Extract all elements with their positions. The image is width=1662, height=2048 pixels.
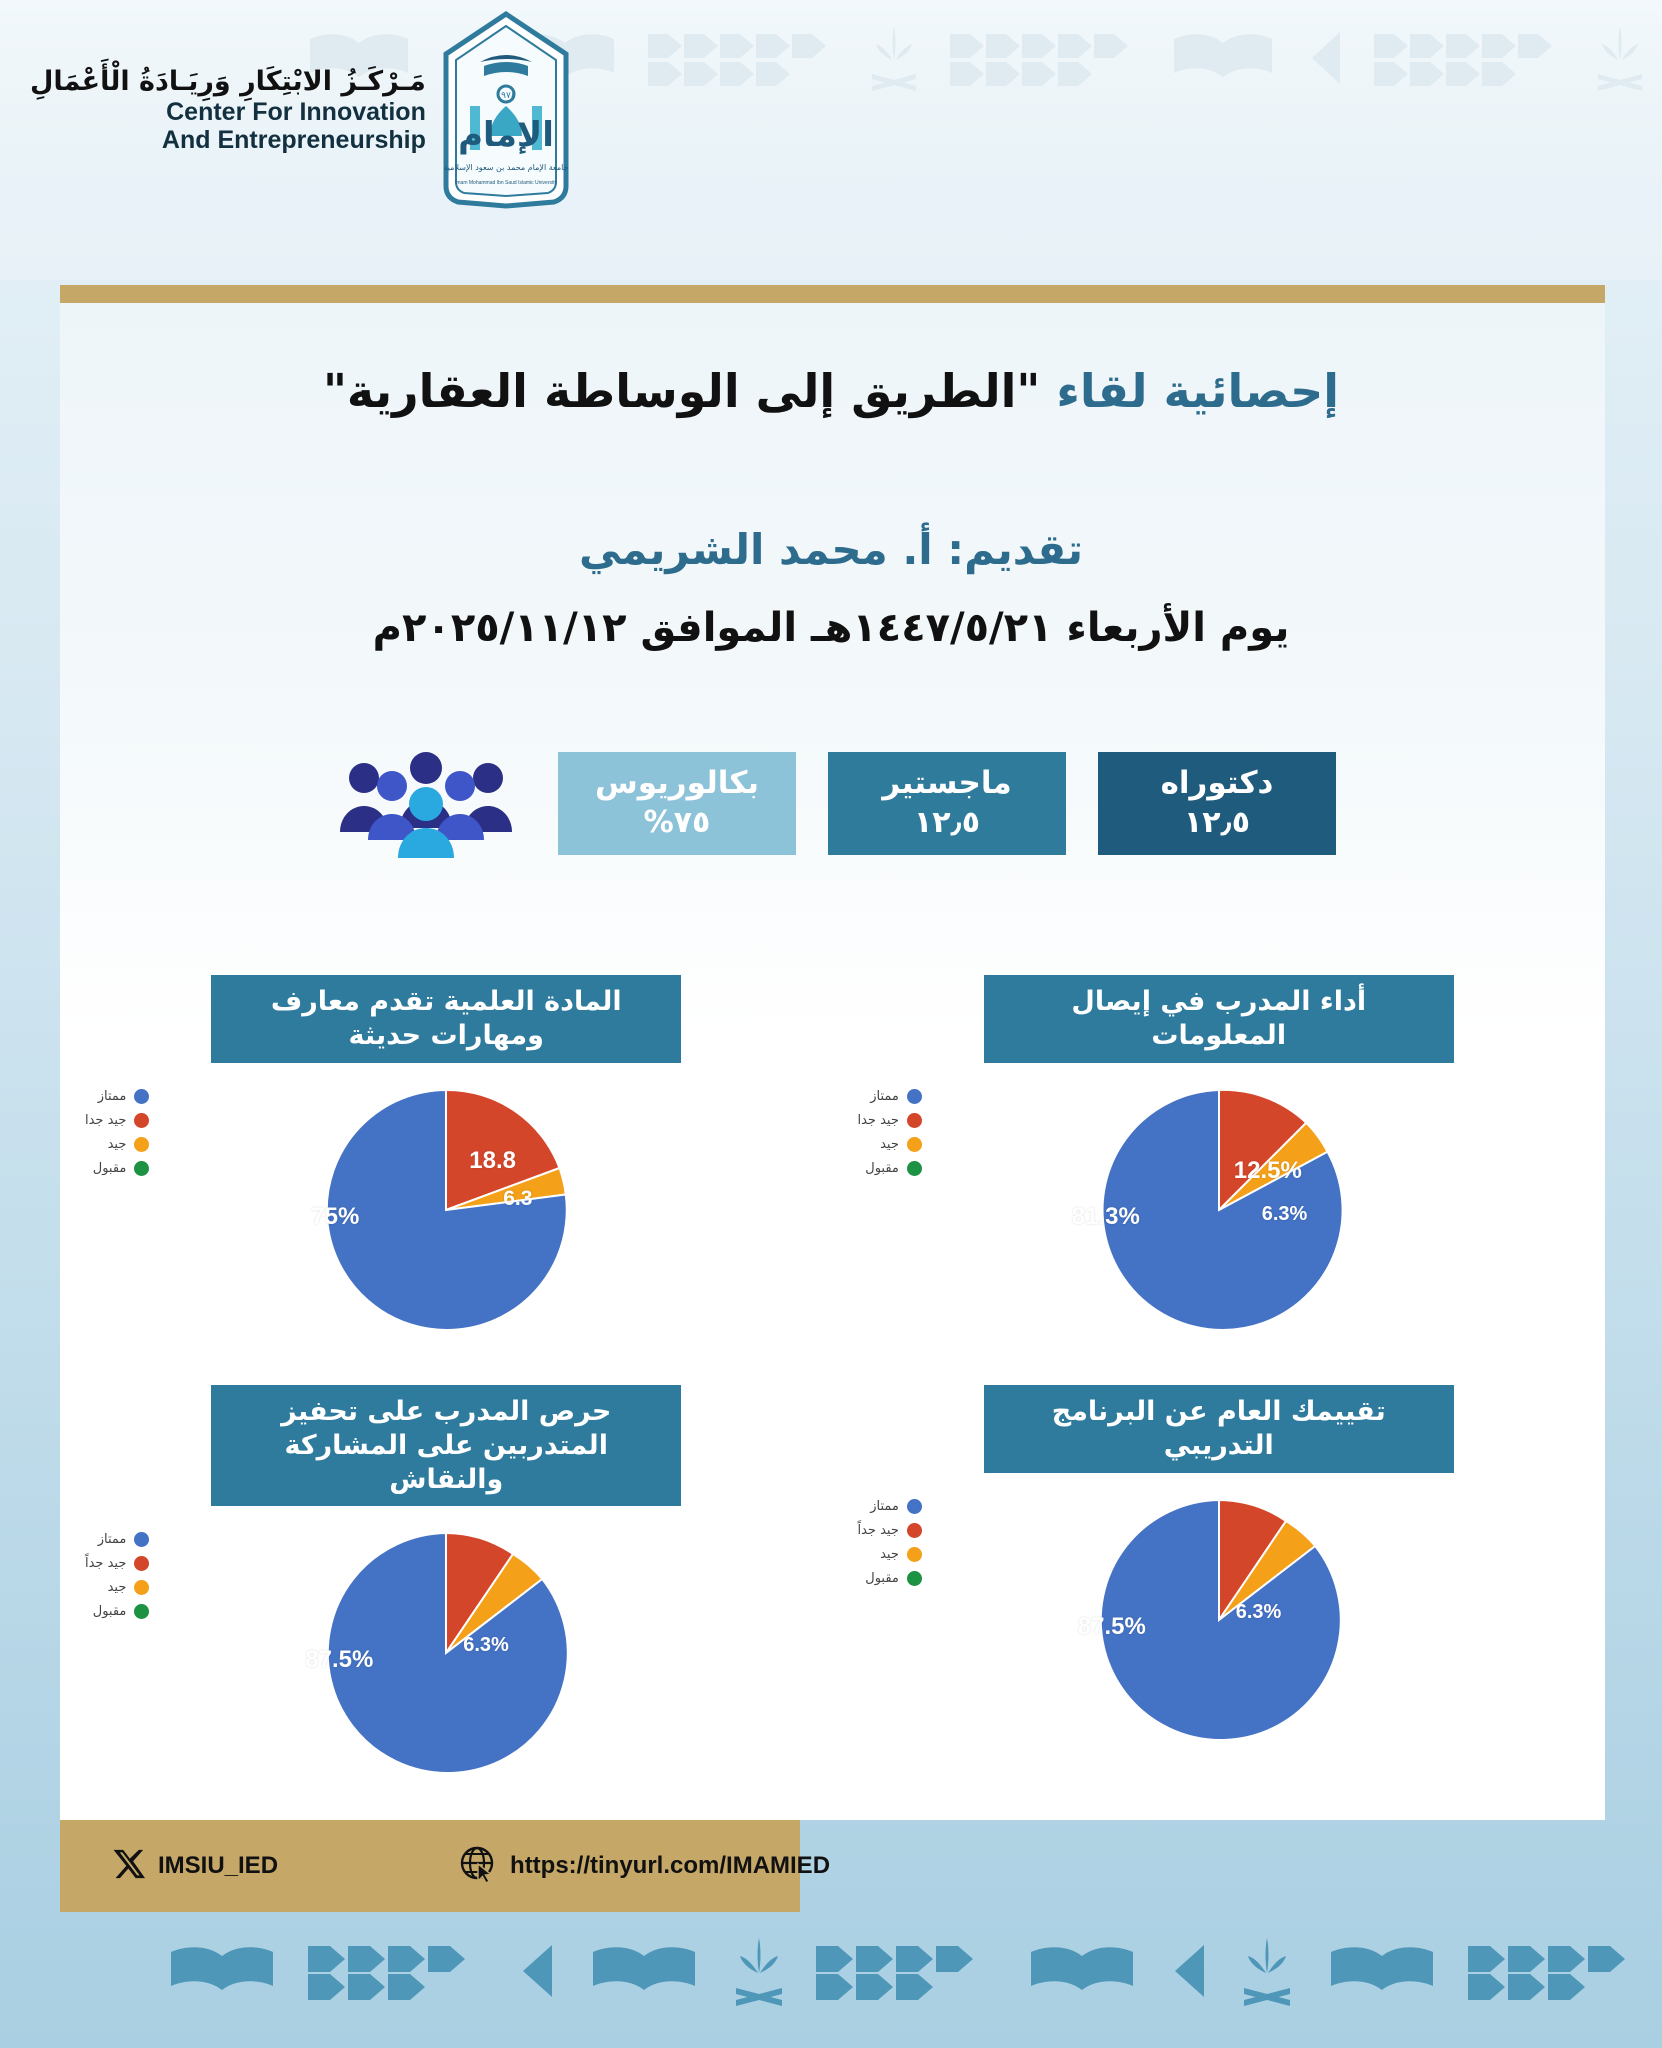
- legend-dot-verygood: [907, 1523, 922, 1538]
- pie-slice-label-excellent-3: 87.5%: [1078, 1613, 1146, 1641]
- pie-chart-3: 87.5% 6.3%: [1094, 1495, 1344, 1745]
- org-name-english-line1: Center For Innovation: [30, 98, 426, 126]
- brand-logo: ١٩٧٤ الإمام جامعة الإمام محمد بن سعود ال…: [30, 10, 572, 210]
- legend-label-excellent: ممتاز: [870, 1499, 899, 1514]
- imsiu-crest-icon: ١٩٧٤ الإمام جامعة الإمام محمد بن سعود ال…: [440, 10, 572, 210]
- legend-item-good: جيد: [858, 1137, 922, 1152]
- chart-cell-3: تقييمك العام عن البرنامج التدريبي 87.5% …: [833, 1385, 1606, 1785]
- chart-legend-2: ممتاز جيد جدا جيد مقبول: [85, 1089, 149, 1176]
- legend-label-good: جيد: [880, 1137, 899, 1152]
- legend-label-acceptable: مقبول: [865, 1571, 899, 1586]
- pie-chart-1: 81.3% 12.5% 6.3%: [1094, 1085, 1344, 1335]
- pie-slice-label-good-2: 6.3: [503, 1187, 532, 1211]
- legend-dot-acceptable: [134, 1604, 149, 1619]
- legend-item-acceptable: مقبول: [858, 1571, 922, 1586]
- triangle-motif-icon: [1168, 1940, 1210, 2006]
- legend-dot-verygood: [134, 1556, 149, 1571]
- legend-dot-excellent: [134, 1532, 149, 1547]
- x-handle-label: IMSIU_IED: [158, 1852, 278, 1880]
- chart-cell-1: أداء المدرب في إيصال المعلومات 81.3% 12.…: [833, 975, 1606, 1375]
- chevron-row-motif-icon: [1468, 1938, 1648, 2008]
- chart-legend-3: ممتاز جيد جداً جيد مقبول: [858, 1499, 922, 1586]
- triangle-motif-icon: [516, 1940, 558, 2006]
- stat-chip-label: بكالوريوس: [595, 764, 759, 804]
- legend-dot-excellent: [907, 1499, 922, 1514]
- legend-dot-verygood: [134, 1113, 149, 1128]
- legend-label-verygood: جيد جداً: [858, 1523, 899, 1538]
- legend-label-excellent: ممتاز: [98, 1089, 127, 1104]
- presenter-line: تقديم: أ. محمد الشريمي: [0, 525, 1662, 574]
- page-title: إحصائية لقاء "الطريق إلى الوساطة العقاري…: [0, 360, 1662, 422]
- legend-dot-good: [907, 1137, 922, 1152]
- pie-slice-label-verygood-2: 18.8: [469, 1147, 516, 1175]
- legend-label-acceptable: مقبول: [93, 1161, 127, 1176]
- chart-cell-4: حرص المدرب على تحفيز المتدربين على المشا…: [60, 1385, 833, 1785]
- legend-item-acceptable: مقبول: [85, 1161, 149, 1176]
- legend-item-excellent: ممتاز: [858, 1499, 922, 1514]
- pie-slice-label-good-4: 6.3%: [463, 1634, 509, 1657]
- infographic-page: ١٩٧٤ الإمام جامعة الإمام محمد بن سعود ال…: [0, 0, 1662, 2048]
- org-name-english-line2: And Entrepreneurship: [30, 126, 426, 154]
- legend-dot-excellent: [907, 1089, 922, 1104]
- org-name-arabic: مَـرْكَـزُ الابْتِكَارِ وَرِيَـادَةُ الْ…: [30, 66, 426, 97]
- chevron-row-motif-icon: [308, 1938, 488, 2008]
- legend-label-acceptable: مقبول: [865, 1161, 899, 1176]
- stat-chip-value: ٧٥%: [644, 804, 711, 842]
- chart-body-2: 75% 18.8 6.3 ممتاز جيد جدا جيد: [60, 1085, 833, 1375]
- legend-item-good: جيد: [858, 1547, 922, 1562]
- legend-dot-excellent: [134, 1089, 149, 1104]
- education-stats-row: دكتوراه ١٢٫٥ ماجستير ١٢٫٥ بكالوريوس ٧٥%: [0, 748, 1662, 858]
- legend-item-excellent: ممتاز: [85, 1089, 149, 1104]
- legend-label-acceptable: مقبول: [93, 1604, 127, 1619]
- legend-item-verygood: جيد جدا: [858, 1113, 922, 1128]
- svg-text:Imam Mohammad Ibn Saud Islamic: Imam Mohammad Ibn Saud Islamic Universit…: [455, 180, 557, 186]
- pie-slice-label-good-1: 6.3%: [1262, 1203, 1308, 1226]
- legend-label-excellent: ممتاز: [98, 1532, 127, 1547]
- book-motif-icon: [1024, 1940, 1140, 2006]
- pie-slice-label-verygood-1: 12.5%: [1234, 1157, 1302, 1185]
- book-motif-icon: [1324, 1940, 1440, 2006]
- pie-slice-label-excellent-4: 87.5%: [305, 1646, 373, 1674]
- chart-title-1: أداء المدرب في إيصال المعلومات: [984, 975, 1454, 1063]
- legend-label-good: جيد: [880, 1547, 899, 1562]
- stat-chip-value: ١٢٫٥: [1184, 804, 1250, 842]
- book-motif-icon: [164, 1940, 280, 2006]
- page-title-prefix: إحصائية لقاء: [1056, 364, 1339, 418]
- svg-text:الإمام: الإمام: [458, 115, 554, 155]
- gold-divider-rule: [60, 285, 1605, 303]
- legend-item-verygood: جيد جداً: [85, 1556, 149, 1571]
- legend-dot-good: [134, 1137, 149, 1152]
- pie-slice-label-excellent-1: 81.3%: [1072, 1203, 1140, 1231]
- page-title-quoted: "الطريق إلى الوساطة العقارية": [323, 364, 1040, 418]
- stat-chip-doctorate: دكتوراه ١٢٫٥: [1098, 752, 1336, 855]
- legend-label-excellent: ممتاز: [870, 1089, 899, 1104]
- legend-item-good: جيد: [85, 1580, 149, 1595]
- legend-dot-acceptable: [907, 1161, 922, 1176]
- legend-label-good: جيد: [108, 1580, 127, 1595]
- audience-people-icon: [326, 748, 526, 858]
- globe-cursor-icon: [458, 1844, 498, 1888]
- stat-chip-value: ١٢٫٥: [914, 804, 980, 842]
- legend-item-acceptable: مقبول: [85, 1604, 149, 1619]
- legend-dot-acceptable: [907, 1571, 922, 1586]
- pie-slice-label-good-3: 6.3%: [1236, 1601, 1282, 1624]
- chart-cell-2: المادة العلمية تقدم معارف ومهارات حديثة …: [60, 975, 833, 1375]
- legend-item-excellent: ممتاز: [858, 1089, 922, 1104]
- x-twitter-icon: [112, 1847, 146, 1885]
- legend-item-verygood: جيد جداً: [858, 1523, 922, 1538]
- legend-item-verygood: جيد جدا: [85, 1113, 149, 1128]
- chart-title-3: تقييمك العام عن البرنامج التدريبي: [984, 1385, 1454, 1473]
- chart-body-1: 81.3% 12.5% 6.3% ممتاز جيد جدا ج: [833, 1085, 1606, 1375]
- legend-dot-good: [907, 1547, 922, 1562]
- legend-label-good: جيد: [108, 1137, 127, 1152]
- chart-legend-1: ممتاز جيد جدا جيد مقبول: [858, 1089, 922, 1176]
- charts-grid: أداء المدرب في إيصال المعلومات 81.3% 12.…: [60, 975, 1605, 1795]
- svg-text:١٩٧٤: ١٩٧٤: [496, 91, 516, 101]
- chart-title-2: المادة العلمية تقدم معارف ومهارات حديثة: [211, 975, 681, 1063]
- legend-label-verygood: جيد جدا: [85, 1113, 126, 1128]
- chart-title-4: حرص المدرب على تحفيز المتدربين على المشا…: [211, 1385, 681, 1506]
- stat-chip-label: ماجستير: [882, 764, 1011, 804]
- website-link[interactable]: https://tinyurl.com/IMAMIED: [458, 1844, 830, 1888]
- legend-dot-verygood: [907, 1113, 922, 1128]
- legend-item-excellent: ممتاز: [85, 1532, 149, 1547]
- stat-chip-label: دكتوراه: [1161, 764, 1274, 804]
- palm-sword-motif-icon: [1238, 1934, 1296, 2012]
- chevron-row-motif-icon: [816, 1938, 996, 2008]
- chart-body-4: 87.5% 6.3% ممتاز جيد جداً جيد: [60, 1528, 833, 1818]
- legend-dot-good: [134, 1580, 149, 1595]
- stat-chip-masters: ماجستير ١٢٫٥: [828, 752, 1066, 855]
- pie-chart-4: 87.5% 6.3%: [321, 1528, 571, 1778]
- website-url-label: https://tinyurl.com/IMAMIED: [510, 1852, 830, 1880]
- footer-contact-bar: IMSIU_IED https://tinyurl.com/IMAMIED: [60, 1820, 800, 1912]
- chart-legend-4: ممتاز جيد جداً جيد مقبول: [85, 1532, 149, 1619]
- book-motif-icon: [586, 1940, 702, 2006]
- pie-chart-2: 75% 18.8 6.3: [321, 1085, 571, 1335]
- chart-body-3: 87.5% 6.3% ممتاز جيد جداً جيد: [833, 1495, 1606, 1785]
- event-date-line: يوم الأربعاء ١٤٤٧/٥/٢١هـ الموافق ٢٠٢٥/١١…: [0, 605, 1662, 651]
- legend-label-verygood: جيد جداً: [85, 1556, 126, 1571]
- svg-text:جامعة الإمام محمد بن سعود الإس: جامعة الإمام محمد بن سعود الإسلامية: [443, 163, 568, 173]
- bottom-ornamental-band: [0, 1898, 1662, 2048]
- x-account[interactable]: IMSIU_IED: [112, 1847, 278, 1885]
- legend-dot-acceptable: [134, 1161, 149, 1176]
- stat-chip-bachelors: بكالوريوس ٧٥%: [558, 752, 796, 855]
- legend-item-good: جيد: [85, 1137, 149, 1152]
- pie-slice-label-excellent-2: 75%: [311, 1203, 359, 1231]
- legend-item-acceptable: مقبول: [858, 1161, 922, 1176]
- palm-sword-motif-icon: [730, 1934, 788, 2012]
- legend-label-verygood: جيد جدا: [858, 1113, 899, 1128]
